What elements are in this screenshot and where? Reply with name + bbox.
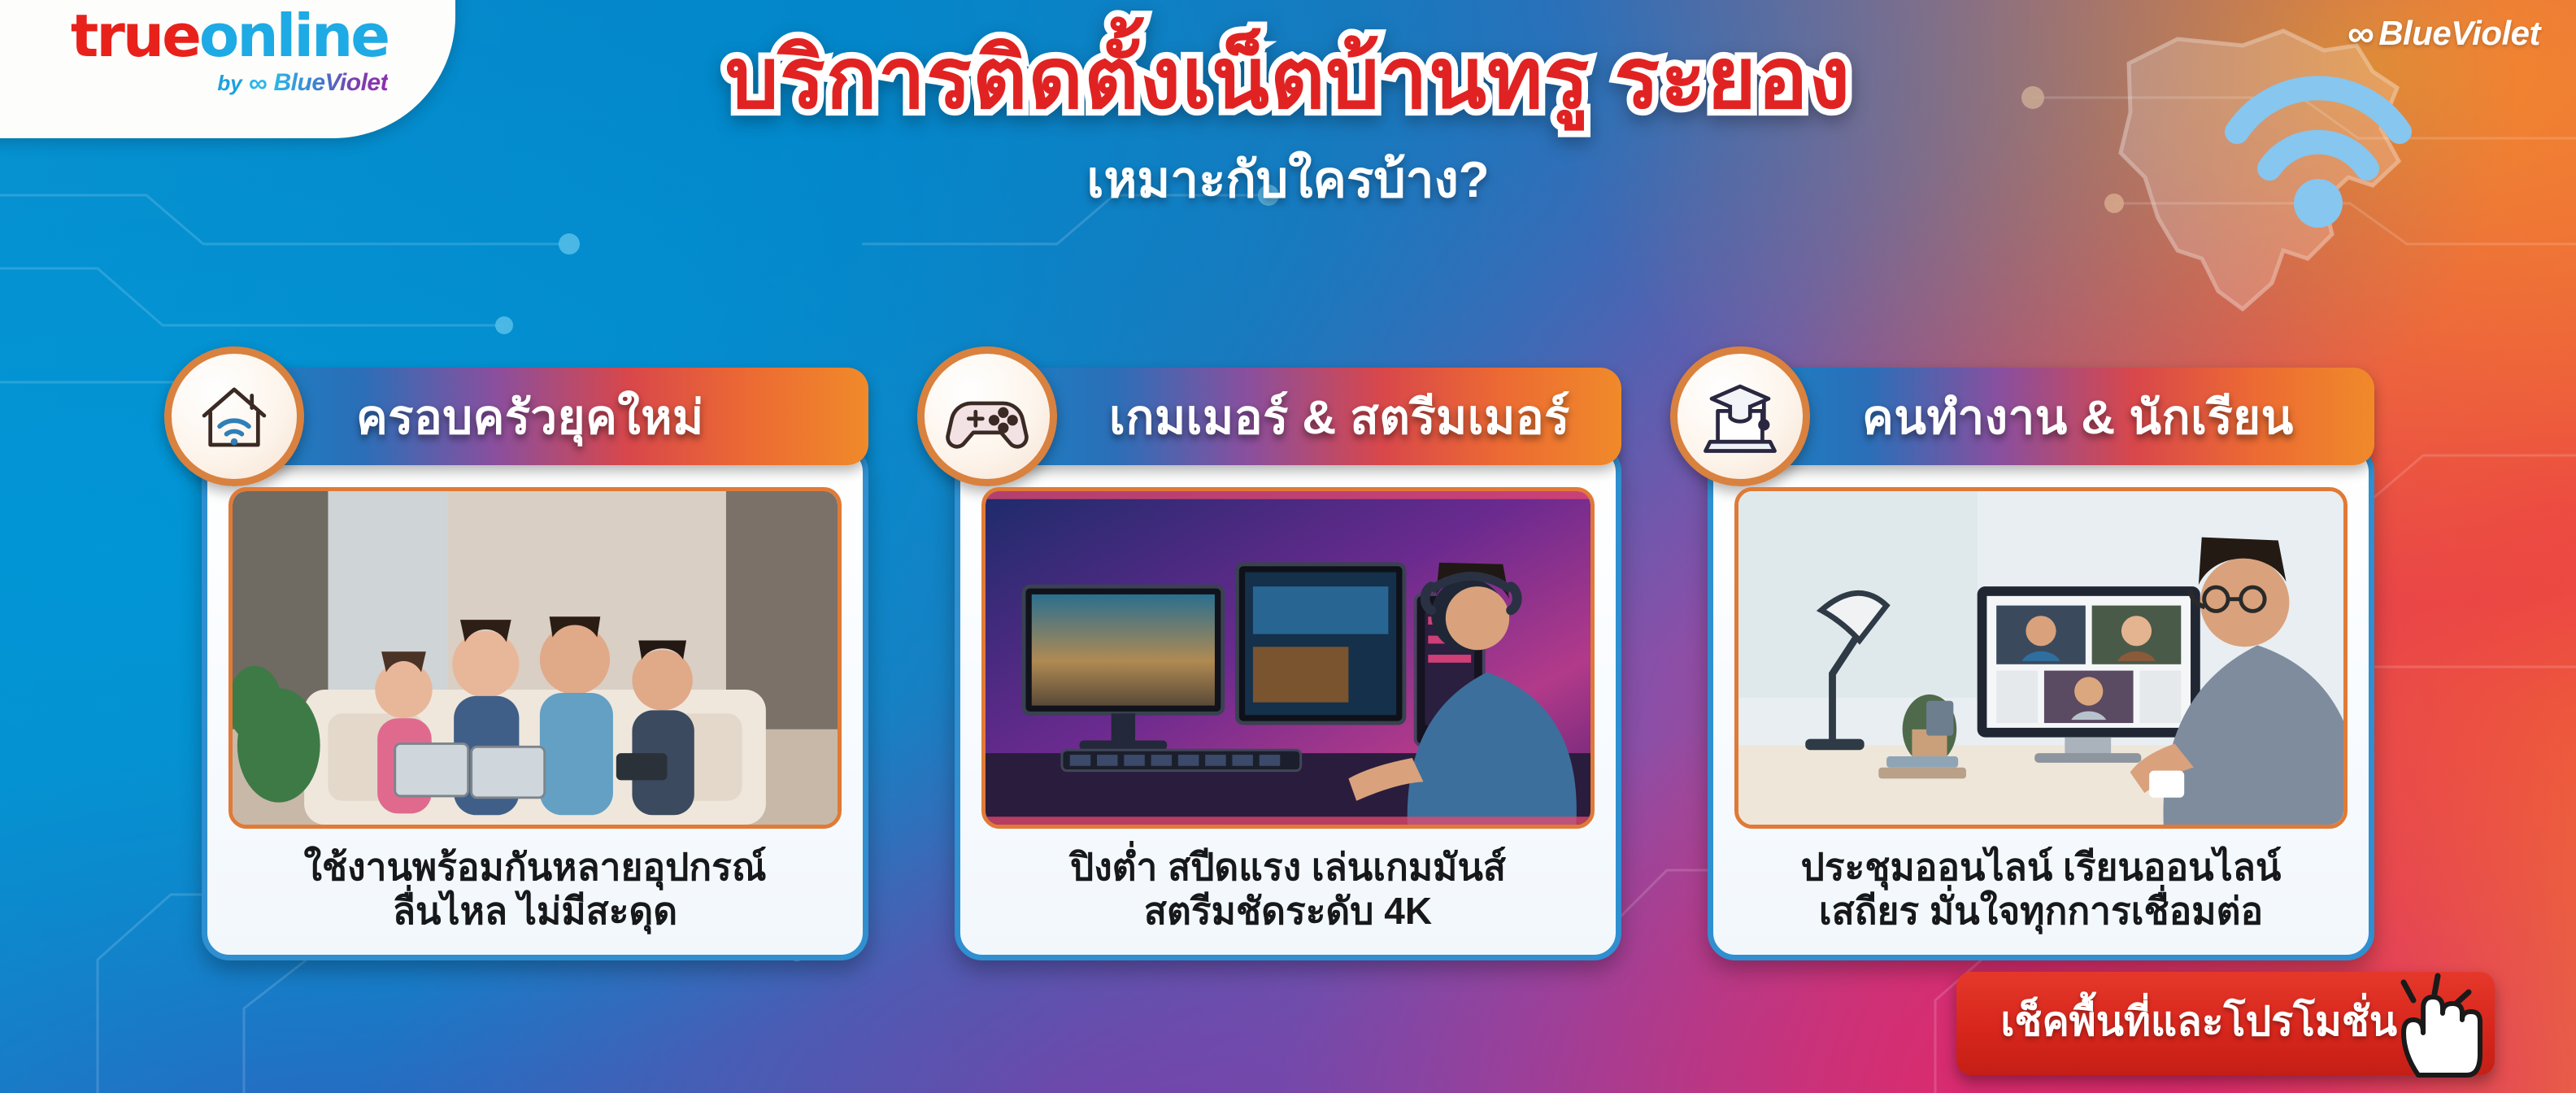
game-controller-icon	[917, 346, 1057, 486]
card-caption: ปิงต่ำ สปีดแรง เล่นเกมมันส์ สตรีมชัดระดั…	[981, 845, 1595, 934]
card-caption-line-2: เสถียร มั่นใจทุกการเชื่อมต่อ	[1734, 889, 2348, 933]
audience-card: เกมเมอร์ & สตรีมเมอร์	[955, 368, 1621, 960]
card-caption-line-1: ประชุมออนไลน์ เรียนออนไลน์	[1734, 845, 2348, 889]
card-caption-line-1: ใช้งานพร้อมกันหลายอุปกรณ์	[228, 845, 842, 889]
card-heading: ครอบครัวยุคใหม่	[356, 379, 704, 455]
banner-header: บริการติดตั้งเน็ตบ้านทรู ระยอง เหมาะกับใ…	[0, 36, 2576, 220]
card-heading: เกมเมอร์ & สตรีมเมอร์	[1109, 379, 1570, 455]
card-body: ใช้งานพร้อมกันหลายอุปกรณ์ ลื่นไหล ไม่มีส…	[202, 444, 868, 960]
card-heading: คนทำงาน & นักเรียน	[1862, 379, 2294, 455]
card-body: ประชุมออนไลน์ เรียนออนไลน์ เสถียร มั่นใจ…	[1708, 444, 2374, 960]
family-on-sofa-with-tablets-photo	[228, 487, 842, 829]
card-caption-line-2: ลื่นไหล ไม่มีสะดุด	[228, 889, 842, 933]
laptop-graduation-cap-icon	[1670, 346, 1810, 486]
card-header: ครอบครัวยุคใหม่	[202, 368, 868, 465]
card-header: คนทำงาน & นักเรียน	[1708, 368, 2374, 465]
audience-card: คนทำงาน & นักเรียน	[1708, 368, 2374, 960]
card-caption: ประชุมออนไลน์ เรียนออนไลน์ เสถียร มั่นใจ…	[1734, 845, 2348, 934]
card-body: ปิงต่ำ สปีดแรง เล่นเกมมันส์ สตรีมชัดระดั…	[955, 444, 1621, 960]
man-in-video-conference-at-desk-photo	[1734, 487, 2348, 829]
card-header: เกมเมอร์ & สตรีมเมอร์	[955, 368, 1621, 465]
card-caption-line-2: สตรีมชัดระดับ 4K	[981, 889, 1595, 933]
card-caption-line-1: ปิงต่ำ สปีดแรง เล่นเกมมันส์	[981, 845, 1595, 889]
cta-area: เช็คพื้นที่และโปรโมชั่น	[1956, 972, 2495, 1075]
page-subtitle: เหมาะกับใครบ้าง?	[0, 140, 2576, 220]
page-title: บริการติดตั้งเน็ตบ้านทรู ระยอง	[0, 36, 2576, 122]
home-wifi-icon	[164, 346, 304, 486]
audience-card: ครอบครัวยุคใหม่	[202, 368, 868, 960]
promo-banner: trueonline by ∞ BlueViolet ∞ BlueViolet …	[0, 0, 2576, 1093]
audience-cards: ครอบครัวยุคใหม่	[0, 368, 2576, 960]
gamer-at-rgb-desk-setup-photo	[981, 487, 1595, 829]
card-caption: ใช้งานพร้อมกันหลายอุปกรณ์ ลื่นไหล ไม่มีส…	[228, 845, 842, 934]
click-hand-cursor-icon	[2381, 971, 2487, 1085]
